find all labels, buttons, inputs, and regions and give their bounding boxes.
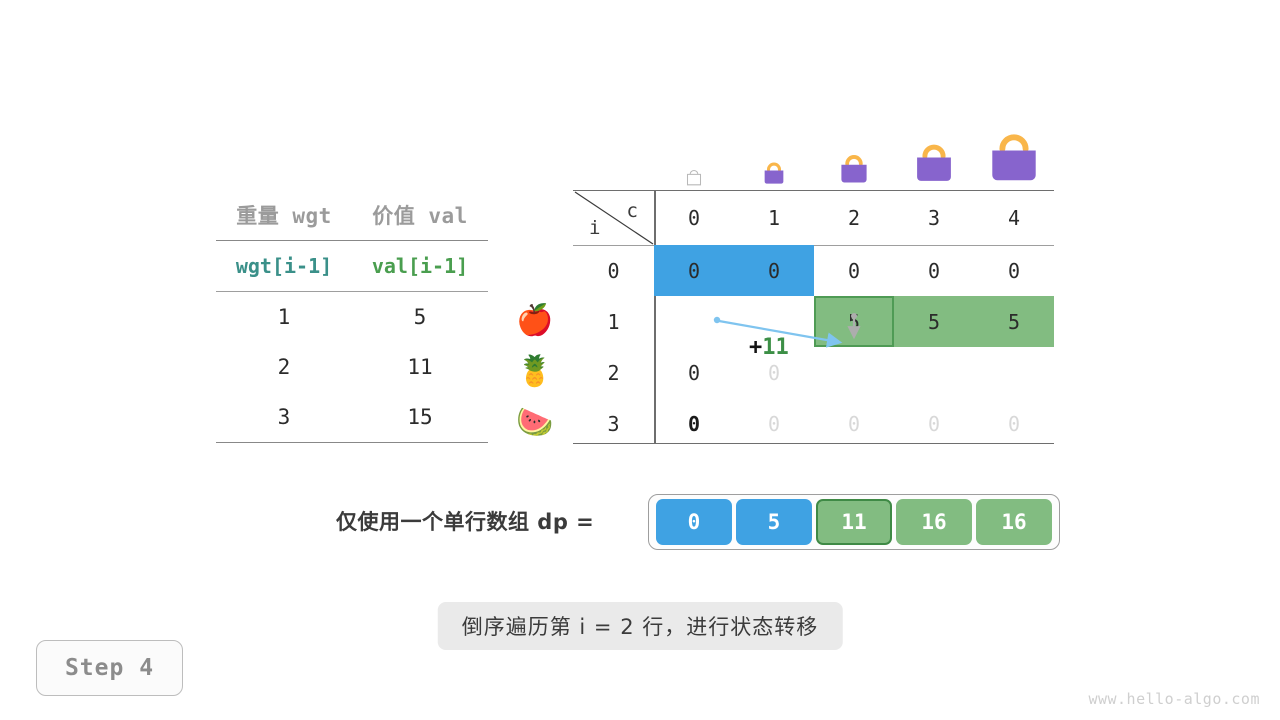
left-table-val-1: 5 <box>352 305 488 329</box>
left-table-row: 3 15 <box>216 392 488 442</box>
transition-gain-sign: + <box>749 335 762 360</box>
dp-cell-0-3: 0 <box>894 245 974 296</box>
dp-row-header-1: 1 <box>573 296 654 347</box>
left-table-header-row: 重量 wgt 价值 val <box>216 190 488 240</box>
dp-array-cell-2: 11 <box>816 499 892 545</box>
dp-cell-2-4: 16 <box>974 347 1054 398</box>
dp-col-header-4: 4 <box>974 190 1054 245</box>
dp-cell-3-0: 0 <box>654 398 734 449</box>
dp-cell-1-3: 5 <box>894 296 974 347</box>
watermark: www.hello-algo.com <box>1088 690 1260 708</box>
dp-col-axis-label: c <box>627 200 638 222</box>
dp-cell-2-3: 16 <box>894 347 974 398</box>
bag-empty-icon <box>654 164 734 190</box>
bag-size-2-icon <box>814 148 894 190</box>
dp-cell-2-0: 0 <box>654 347 734 398</box>
left-table-header-wgt: 重量 wgt <box>216 200 352 230</box>
item-icon-column: 🍎 🍍 🍉 <box>505 295 565 448</box>
left-table-rule-bottom <box>216 442 488 443</box>
dp-array-cell-1: 5 <box>736 499 812 545</box>
weight-value-table: 重量 wgt 价值 val wgt[i-1] val[i-1] 1 5 2 11… <box>216 190 488 443</box>
dp-row-header-2: 2 <box>573 347 654 398</box>
apple-icon: 🍎 <box>505 295 565 346</box>
dp-table-corner-cell: c i <box>573 190 654 245</box>
dp-cell-0-4: 0 <box>974 245 1054 296</box>
left-table-subheader-row: wgt[i-1] val[i-1] <box>216 241 488 291</box>
dp-array-cell-4: 16 <box>976 499 1052 545</box>
dp-array-label: 仅使用一个单行数组 dp = <box>336 506 594 536</box>
dp-cell-3-2: 0 <box>814 398 894 449</box>
dp-cell-1-0: 0 <box>654 296 734 347</box>
left-table-wgt-1: 1 <box>216 305 352 329</box>
dp-row-header-0: 0 <box>573 245 654 296</box>
dp-array-cell-0: 0 <box>656 499 732 545</box>
dp-cell-0-2: 0 <box>814 245 894 296</box>
dp-col-header-0: 0 <box>654 190 734 245</box>
dp-array-strip: 0 5 11 16 16 <box>648 494 1060 550</box>
bag-size-4-icon <box>974 128 1054 190</box>
transition-gain-value: 11 <box>762 335 789 360</box>
left-table-subheader-wgt: wgt[i-1] <box>216 254 352 278</box>
left-table-val-2: 11 <box>352 355 488 379</box>
caption-text: 倒序遍历第 i = 2 行，进行状态转移 <box>438 602 843 650</box>
left-table-subheader-val: val[i-1] <box>352 254 488 278</box>
watermelon-icon: 🍉 <box>505 397 565 448</box>
left-table-row: 1 5 <box>216 292 488 342</box>
dp-cell-1-4: 5 <box>974 296 1054 347</box>
pineapple-icon: 🍍 <box>505 346 565 397</box>
left-table-header-val: 价值 val <box>352 200 488 230</box>
dp-row-header-3: 3 <box>573 398 654 449</box>
dp-col-header-1: 1 <box>734 190 814 245</box>
left-table-row: 2 11 <box>216 342 488 392</box>
dp-col-header-3: 3 <box>894 190 974 245</box>
bag-capacity-icons <box>654 120 1054 190</box>
dp-cell-3-4: 0 <box>974 398 1054 449</box>
dp-cell-1-2: 5 <box>814 296 894 347</box>
dp-col-header-2: 2 <box>814 190 894 245</box>
dp-cell-3-3: 0 <box>894 398 974 449</box>
dp-table: c i 0 1 2 3 4 0 1 2 3 0 0 0 0 0 0 5 5 5 … <box>573 190 1054 444</box>
dp-array-cell-3: 16 <box>896 499 972 545</box>
bag-size-1-icon <box>734 156 814 190</box>
dp-cell-0-1: 0 <box>734 245 814 296</box>
left-table-val-3: 15 <box>352 405 488 429</box>
dp-cell-3-1: 0 <box>734 398 814 449</box>
left-table-wgt-2: 2 <box>216 355 352 379</box>
bag-size-3-icon <box>894 138 974 190</box>
dp-cell-0-0: 0 <box>654 245 734 296</box>
left-table-wgt-3: 3 <box>216 405 352 429</box>
dp-row-axis-label: i <box>589 217 600 239</box>
dp-cell-2-2: 11 <box>814 347 894 398</box>
transition-gain-label: +11 <box>749 335 789 360</box>
step-badge: Step 4 <box>36 640 183 696</box>
